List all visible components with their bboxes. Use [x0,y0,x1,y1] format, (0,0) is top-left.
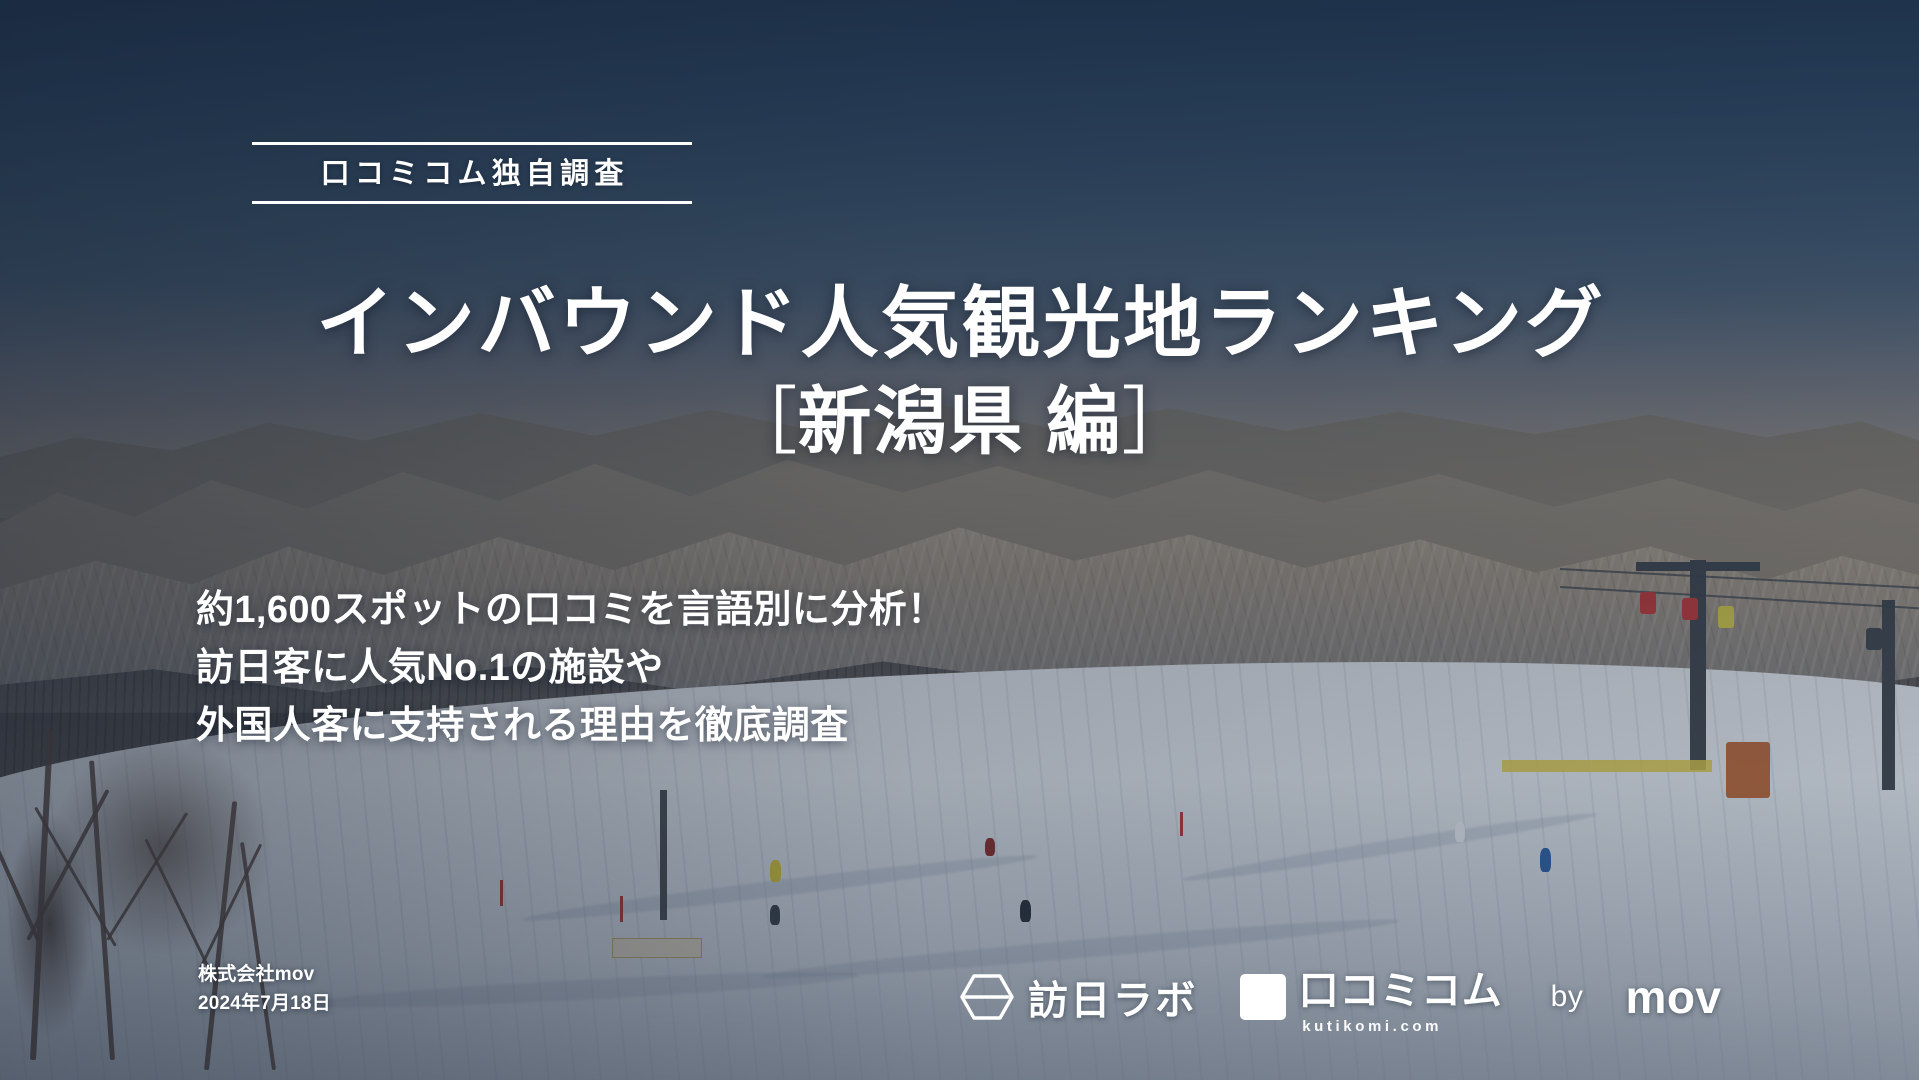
survey-badge: 口コミコム独自調査 [252,142,692,204]
title-main-line: インバウンド人気観光地ランキング [0,280,1919,367]
lead-line-2: 訪日客に人気No.1の施設や [196,640,1296,698]
bracket-close: ］ [1121,380,1195,463]
credit-date: 2024年7月18日 [198,989,331,1018]
mov-wordmark: mov [1626,970,1722,1024]
kutikomikomu-logo: 口コミコム kutikomi.com [1240,958,1503,1035]
honichi-labo-wordmark: 訪日ラボ [1028,968,1198,1026]
slide-content: 口コミコム独自調査 インバウンド人気観光地ランキング ［新潟県 編］ 約1,60… [0,0,1919,1080]
kutikomikomu-wordmark: 口コミコム [1299,958,1503,1016]
title-region-line: ［新潟県 編］ [0,381,1919,464]
lead-line-3: 外国人客に支持される理由を徹底調査 [196,698,1296,756]
slide-title: インバウンド人気観光地ランキング ［新潟県 編］ [0,280,1919,464]
kutikomi-square-icon [1240,974,1286,1020]
bracket-open: ［ [724,380,798,463]
kutikomi-wordmark-stack: 口コミコム kutikomi.com [1299,958,1503,1035]
credit-company: 株式会社mov [198,960,331,989]
logo-strip: 訪日ラボ 口コミコム kutikomi.com by mov [960,958,1721,1035]
company-credit: 株式会社mov 2024年7月18日 [198,960,331,1019]
lead-paragraph: 約1,600スポットの口コミを言語別に分析！ 訪日客に人気No.1の施設や 外国… [196,582,1296,755]
by-label: by [1551,980,1584,1014]
hexagon-icon [960,972,1014,1022]
kutikomi-domain: kutikomi.com [1299,1018,1442,1035]
lead-line-1: 約1,600スポットの口コミを言語別に分析！ [196,582,1296,640]
honichi-labo-logo: 訪日ラボ [960,968,1198,1026]
slide-canvas: 口コミコム独自調査 インバウンド人気観光地ランキング ［新潟県 編］ 約1,60… [0,0,1919,1080]
survey-badge-label: 口コミコム独自調査 [252,159,692,189]
title-region: 新潟県 編 [798,380,1122,463]
